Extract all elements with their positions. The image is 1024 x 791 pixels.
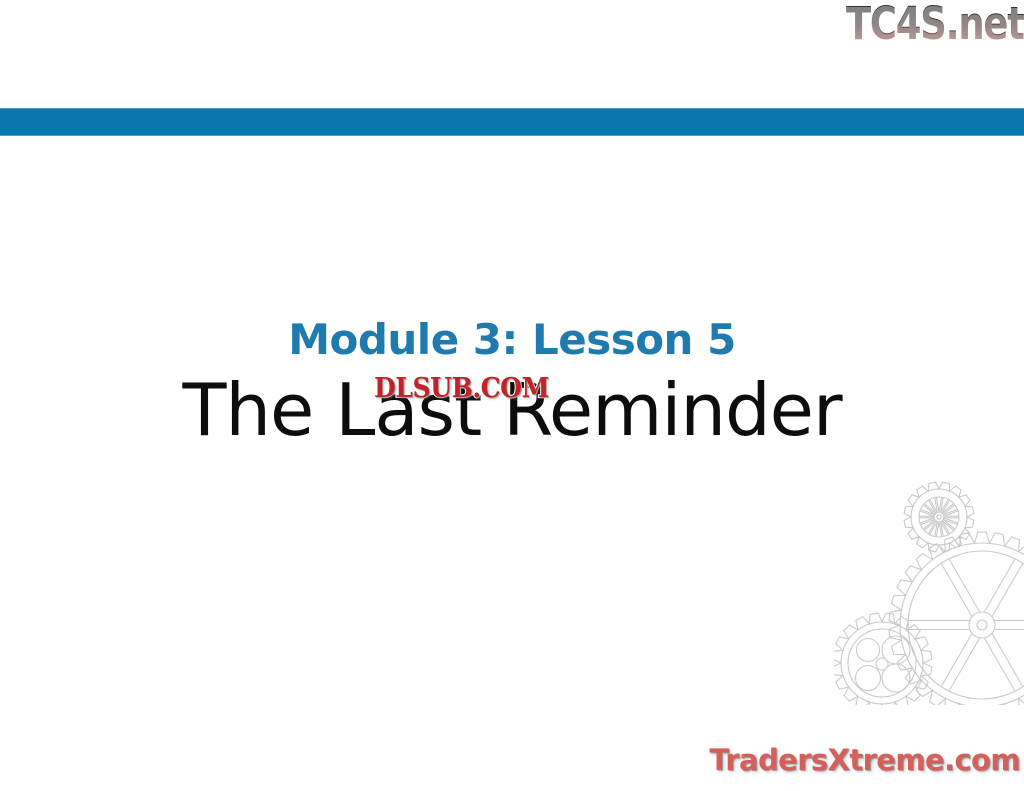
gears-svg — [834, 465, 1024, 705]
tradersxtreme-logo: TradersXtreme.com — [709, 743, 1020, 777]
presentation-slide: TC4S.net Module 3: Lesson 5 The Last Rem… — [0, 0, 1024, 791]
gear-small-top — [904, 482, 974, 552]
accent-bar — [0, 108, 1024, 136]
lesson-subtitle: Module 3: Lesson 5 — [0, 316, 1024, 364]
dlsub-watermark: DLSUB.COM — [374, 374, 549, 404]
tc4s-logo: TC4S.net — [846, 0, 1024, 50]
gear-medium-left — [834, 613, 932, 705]
gear-decoration — [834, 465, 1024, 705]
gear-large-right — [889, 532, 1024, 705]
